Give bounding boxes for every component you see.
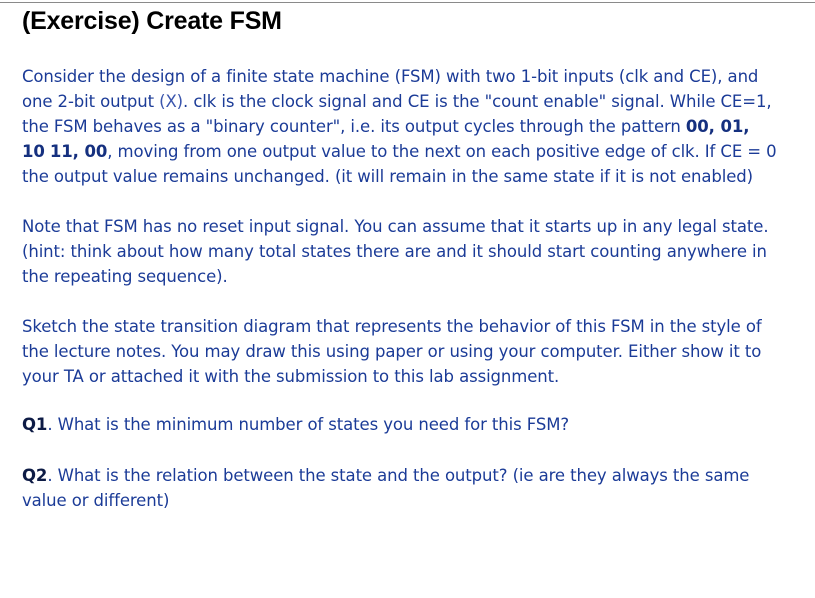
paragraph-sketch-instructions: Sketch the state transition diagram that… [22,314,777,389]
question-1-label: Q1 [22,415,47,434]
counter-pattern-second: 11, 00 [50,142,107,161]
question-1: Q1. What is the minimum number of states… [22,412,777,437]
page-title: (Exercise) Create FSM [22,4,797,36]
question-1-text: . What is the minimum number of states y… [47,415,569,434]
top-divider-rule [0,2,815,3]
paragraph-problem-statement: Consider the design of a finite state ma… [22,64,777,189]
document-content: (Exercise) Create FSM Consider the desig… [22,4,797,513]
paragraph-reset-note: Note that FSM has no reset input signal.… [22,214,777,289]
output-signal-label: (X) [159,92,183,111]
paragraph-1-text-part-3: , moving from one output value to the ne… [22,142,777,186]
question-2-text: . What is the relation between the state… [22,466,749,510]
document-page: (Exercise) Create FSM Consider the desig… [0,0,815,598]
question-2: Q2. What is the relation between the sta… [22,463,777,513]
question-2-label: Q2 [22,466,47,485]
